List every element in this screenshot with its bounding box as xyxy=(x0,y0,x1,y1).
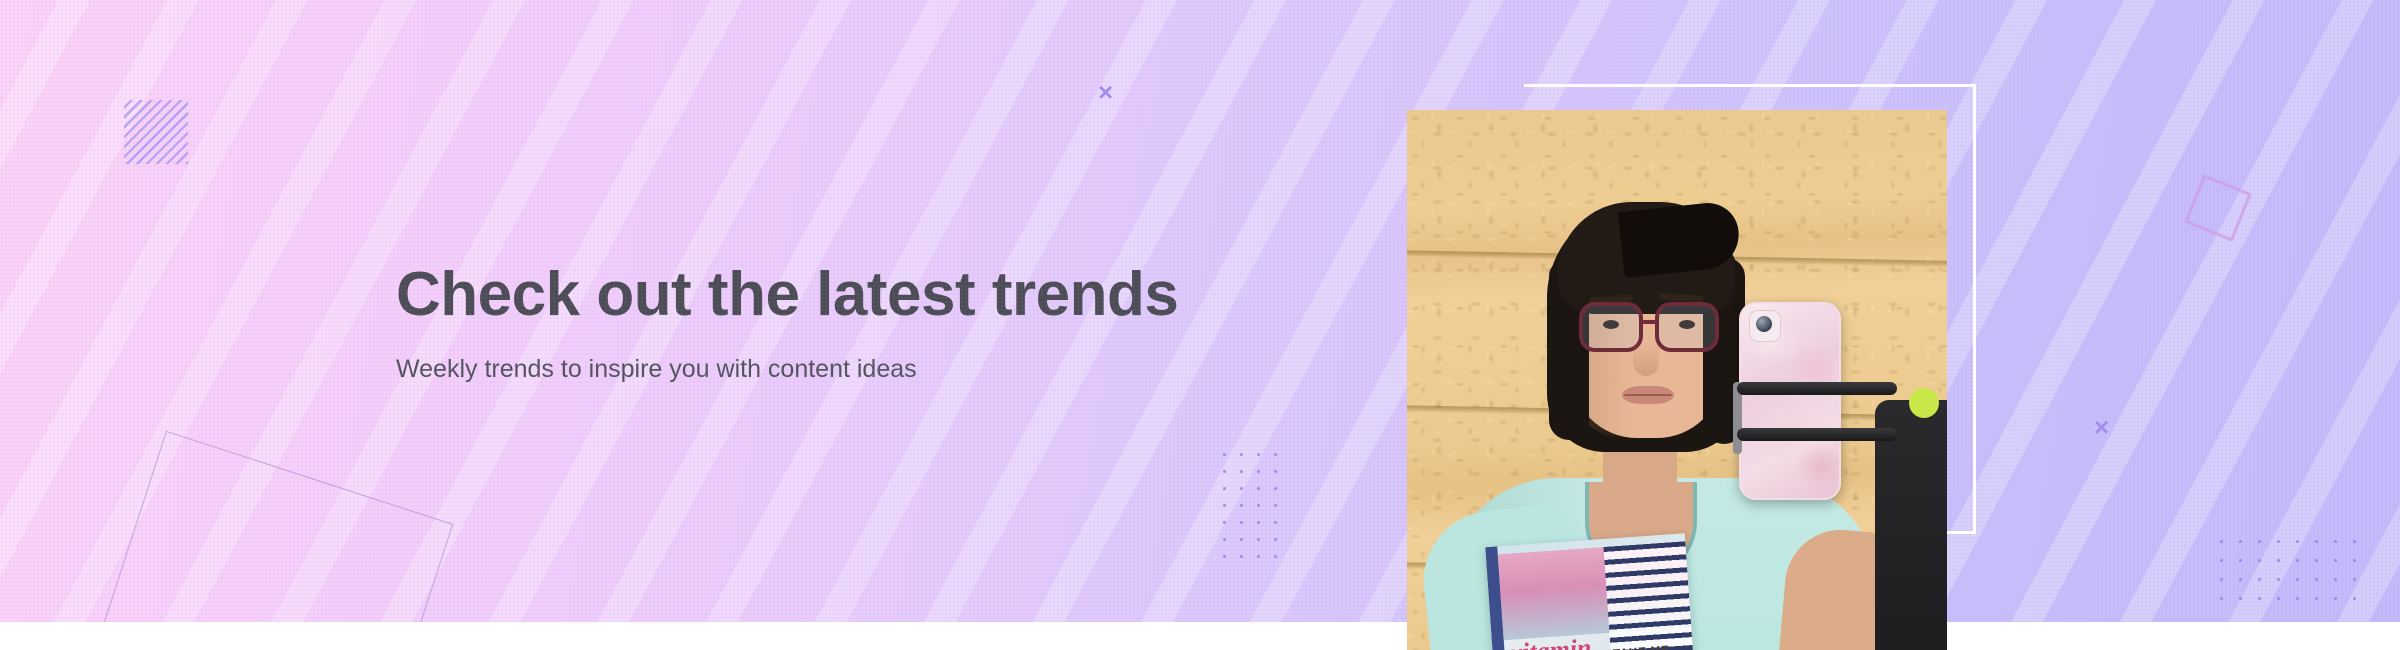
striped-square-icon xyxy=(124,100,188,164)
x-mark-icon: × xyxy=(2094,414,2109,440)
page-subtitle: Weekly trends to inspire you with conten… xyxy=(396,353,1296,386)
hair-side-right xyxy=(1703,258,1745,444)
held-book: vitamin sea TAKE ME TROPE all xyxy=(1485,533,1701,650)
eye-left xyxy=(1603,320,1619,329)
x-mark-icon: × xyxy=(1098,79,1113,105)
shirt-shading xyxy=(1447,478,1597,650)
glasses-lens-right xyxy=(1655,302,1719,352)
tripod-mount-arm xyxy=(1875,400,1947,650)
glasses-lens-left xyxy=(1579,302,1643,352)
smartphone xyxy=(1739,302,1841,500)
phone-clamp-bottom xyxy=(1737,428,1897,441)
book-cover-photo xyxy=(1498,541,1692,640)
gradient-banner: × × Check out the latest trends Weekly t… xyxy=(0,0,2400,622)
shirt xyxy=(1447,478,1877,650)
hair-sweep xyxy=(1618,200,1742,278)
shirt-collar xyxy=(1585,482,1697,578)
lip-line xyxy=(1624,394,1672,396)
face-shading xyxy=(1571,222,1631,438)
wall-seam xyxy=(1407,250,1947,269)
banner-copy: Check out the latest trends Weekly trend… xyxy=(396,262,1296,386)
book-spine xyxy=(1485,546,1513,650)
right-arm xyxy=(1768,525,1909,650)
dot-grid-icon xyxy=(1216,446,1278,558)
page-title: Check out the latest trends xyxy=(396,262,1296,327)
book-cover-stripes xyxy=(1603,541,1693,650)
tripod-mount-knob xyxy=(1909,388,1939,418)
banner-stage: × × Check out the latest trends Weekly t… xyxy=(0,0,2400,650)
hair-side-left xyxy=(1549,260,1589,440)
book-subtitle: TAKE ME TROPE xyxy=(1612,641,1694,650)
neck xyxy=(1603,400,1677,510)
eye-right xyxy=(1679,320,1695,329)
phone-camera-lens-icon xyxy=(1756,316,1772,332)
phone-clamp-top xyxy=(1737,382,1897,395)
wall-texture xyxy=(1407,110,1947,650)
book-title-line-1: vitamin xyxy=(1510,633,1593,650)
rotated-square-outline-icon xyxy=(73,431,454,622)
left-shoulder xyxy=(1417,503,1591,650)
phone-clamp-post xyxy=(1733,382,1742,454)
face xyxy=(1571,222,1723,438)
hair-back xyxy=(1547,202,1743,452)
diamond-outline-icon xyxy=(2184,174,2252,242)
glasses-bridge xyxy=(1642,320,1657,324)
hero-photo: vitamin sea TAKE ME TROPE all xyxy=(1407,110,1947,650)
lips xyxy=(1622,386,1674,404)
wall-background xyxy=(1407,110,1947,650)
dot-grid-icon xyxy=(2212,532,2370,602)
wall-seam xyxy=(1407,405,1947,424)
hair-front xyxy=(1557,202,1735,314)
eyebrow-right xyxy=(1659,292,1703,302)
person-figure: vitamin sea TAKE ME TROPE all xyxy=(1407,110,1947,650)
phone-camera-housing xyxy=(1749,310,1781,342)
book-title-script: vitamin sea xyxy=(1510,636,1594,650)
eyebrow-left xyxy=(1589,294,1633,305)
wall-seam xyxy=(1407,562,1947,581)
tripod-mount-base xyxy=(1887,459,1947,615)
nose xyxy=(1633,342,1659,376)
